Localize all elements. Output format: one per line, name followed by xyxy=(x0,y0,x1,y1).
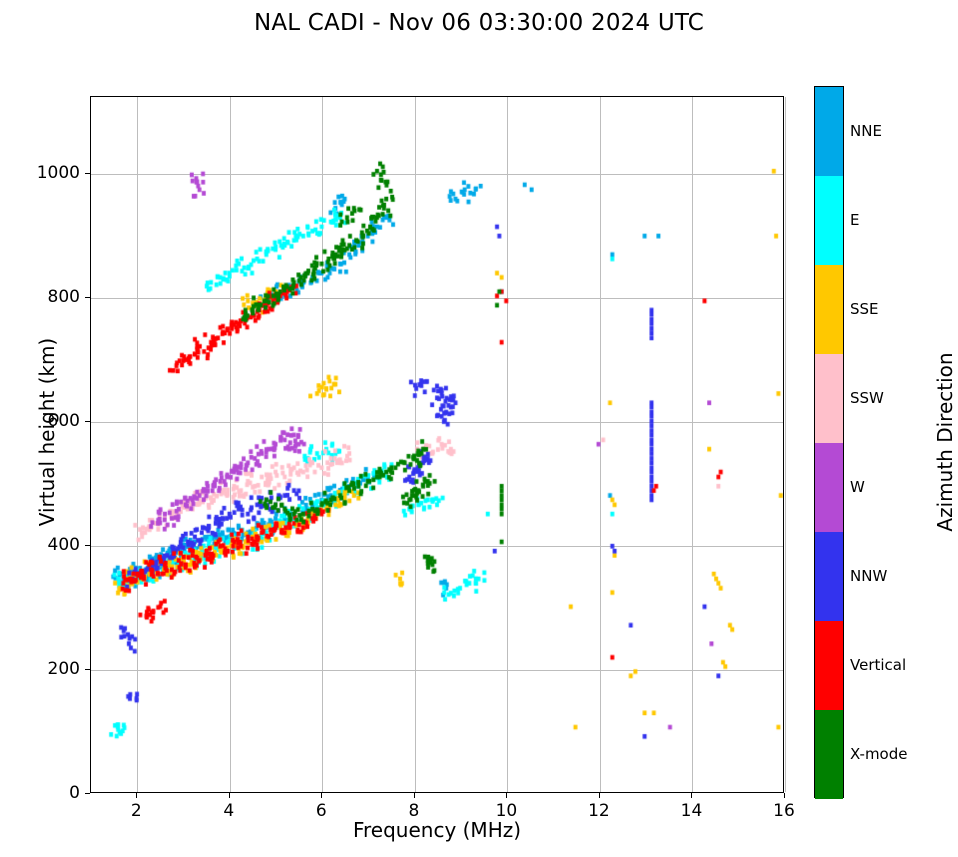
colorbar-segment-ssw xyxy=(815,354,843,443)
colorbar-segment-vertical xyxy=(815,621,843,710)
y-tick-label: 0 xyxy=(12,783,80,803)
y-tick-label: 200 xyxy=(12,659,80,679)
y-tickmark xyxy=(85,297,90,298)
colorbar-label-nnw: NNW xyxy=(850,567,887,585)
page-title: NAL CADI - Nov 06 03:30:00 2024 UTC xyxy=(0,10,958,36)
colorbar-label-ssw: SSW xyxy=(850,389,884,407)
colorbar-segment-w xyxy=(815,443,843,532)
colorbar-label-nne: NNE xyxy=(850,122,882,140)
colorbar-segment-nnw xyxy=(815,532,843,621)
y-tickmark xyxy=(85,421,90,422)
y-axis-label: Virtual height (km) xyxy=(35,282,59,582)
x-tickmark xyxy=(691,793,692,798)
plot-area xyxy=(90,96,784,793)
colorbar-label-sse: SSE xyxy=(850,300,879,318)
colorbar xyxy=(814,86,844,798)
colorbar-segment-sse xyxy=(815,265,843,354)
x-tickmark xyxy=(599,793,600,798)
colorbar-segment-e xyxy=(815,176,843,265)
x-tickmark xyxy=(136,793,137,798)
colorbar-segment-nne xyxy=(815,87,843,176)
y-tickmark xyxy=(85,173,90,174)
colorbar-title: Azimuth Direction xyxy=(933,292,957,592)
colorbar-label-x-mode: X-mode xyxy=(850,745,907,763)
scatter-canvas xyxy=(91,97,783,792)
x-tickmark xyxy=(414,793,415,798)
colorbar-label-w: W xyxy=(850,478,865,496)
y-tickmark xyxy=(85,545,90,546)
x-tickmark xyxy=(321,793,322,798)
colorbar-label-e: E xyxy=(850,211,859,229)
colorbar-segment-x-mode xyxy=(815,710,843,799)
y-tick-label: 1000 xyxy=(12,163,80,183)
x-axis-label: Frequency (MHz) xyxy=(90,818,784,842)
x-tickmark xyxy=(506,793,507,798)
colorbar-label-vertical: Vertical xyxy=(850,656,906,674)
x-tickmark xyxy=(229,793,230,798)
y-tickmark xyxy=(85,669,90,670)
x-tickmark xyxy=(784,793,785,798)
chart-root: NAL CADI - Nov 06 03:30:00 2024 UTC 2468… xyxy=(0,0,958,857)
y-tickmark xyxy=(85,793,90,794)
gridline-vertical xyxy=(785,97,786,792)
